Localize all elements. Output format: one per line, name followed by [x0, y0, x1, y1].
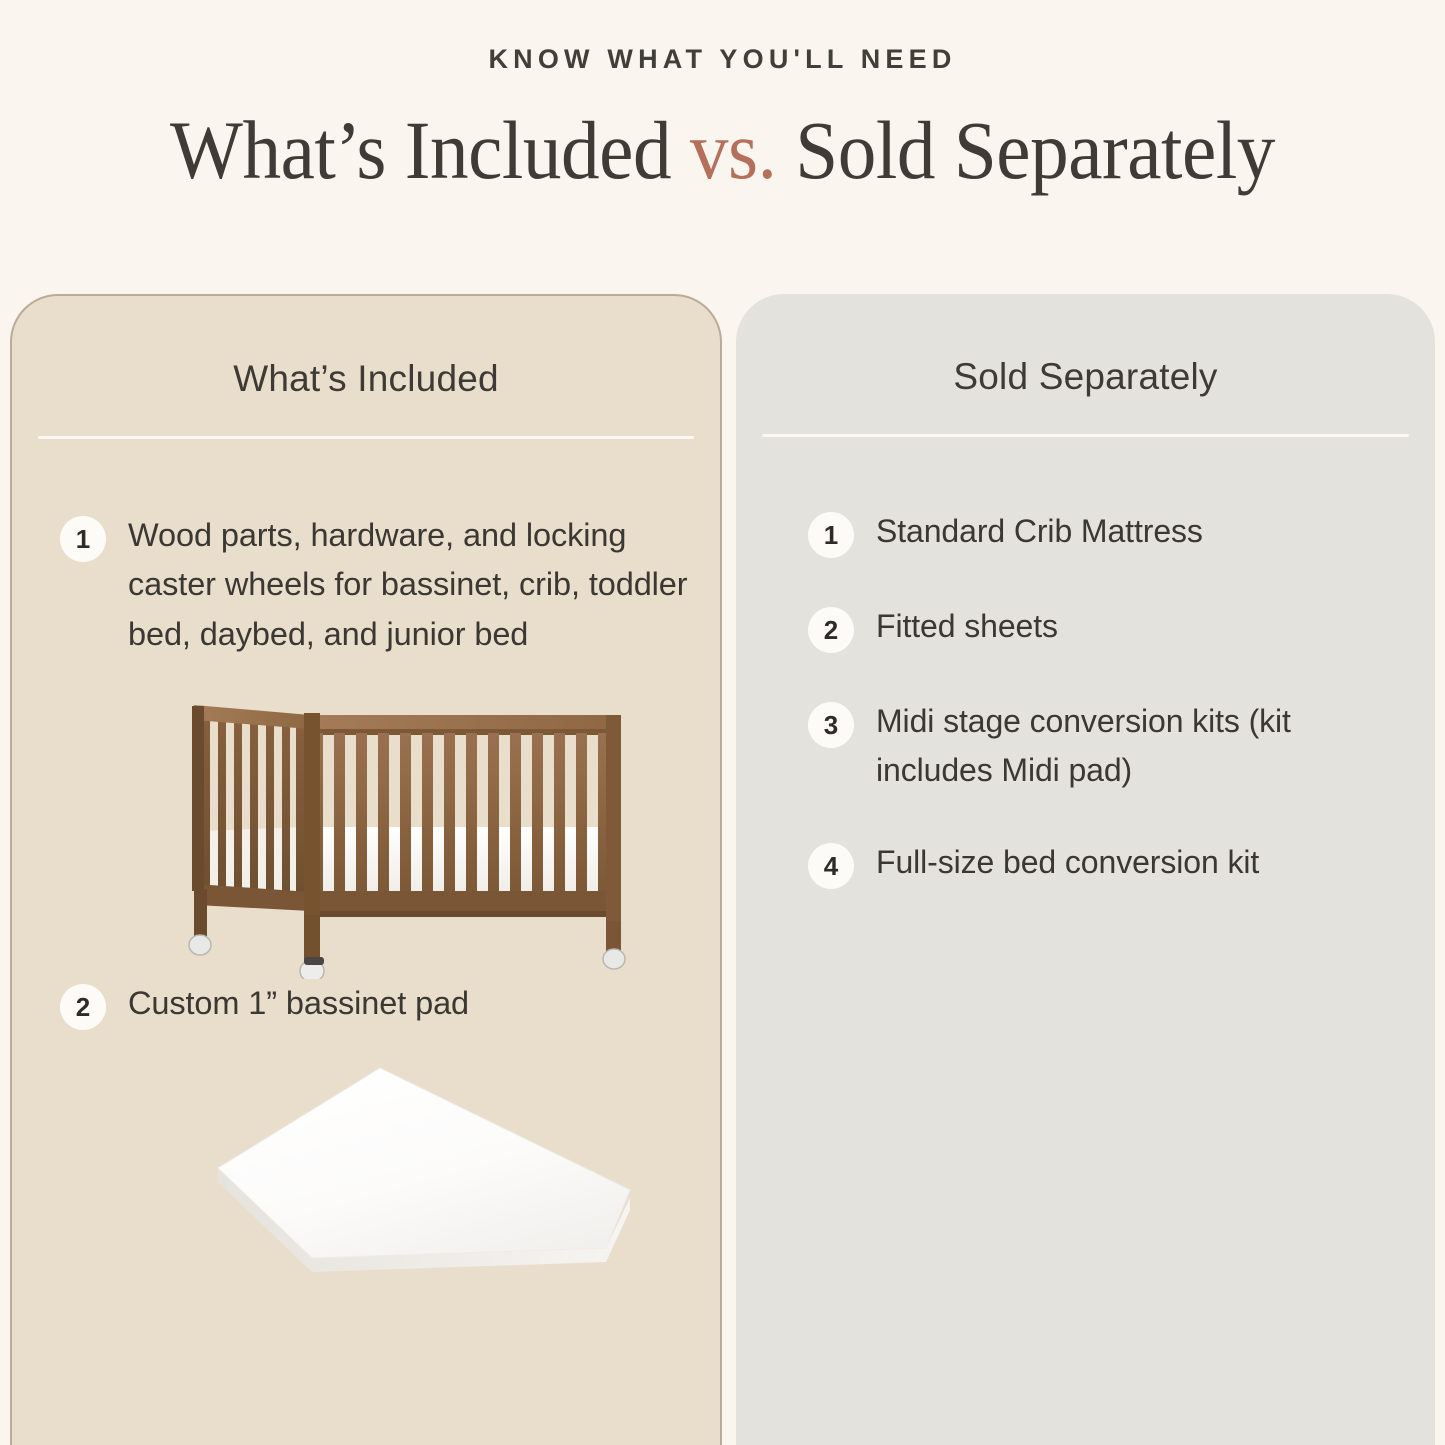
item-number-badge: 1: [808, 512, 854, 558]
item-text: Midi stage conversion kits (kit includes…: [876, 697, 1395, 794]
item-number-badge: 4: [808, 843, 854, 889]
item-text: Standard Crib Mattress: [876, 507, 1203, 556]
page-header: KNOW WHAT YOU'LL NEED What’s Included vs…: [0, 0, 1445, 193]
crib-illustration: [178, 679, 638, 979]
page-title-part2: Sold Separately: [776, 104, 1274, 196]
item-number-badge: 3: [808, 702, 854, 748]
bassinet-pad-illustration: [200, 1060, 670, 1290]
list-item: 1 Standard Crib Mattress: [808, 507, 1395, 558]
crib-image-stage: [60, 679, 690, 979]
page-title: What’s Included vs. Sold Separately: [51, 107, 1395, 193]
item-text: Fitted sheets: [876, 602, 1058, 651]
eyebrow-text: KNOW WHAT YOU'LL NEED: [0, 46, 1445, 73]
comparison-cards: What’s Included 1 Wood parts, hardware, …: [0, 294, 1445, 1445]
item-number-badge: 2: [808, 607, 854, 653]
included-list: 1 Wood parts, hardware, and locking cast…: [12, 511, 720, 1290]
included-card: What’s Included 1 Wood parts, hardware, …: [10, 294, 722, 1445]
caster-wheels: [189, 935, 625, 979]
list-item: 2 Custom 1” bassinet pad: [60, 979, 690, 1030]
page-title-vs: vs.: [690, 104, 777, 196]
sold-separately-card-title: Sold Separately: [736, 294, 1435, 398]
sold-separately-list: 1 Standard Crib Mattress 2 Fitted sheets…: [736, 507, 1435, 889]
item-text: Full-size bed conversion kit: [876, 838, 1259, 887]
sold-separately-card-divider: [762, 434, 1409, 437]
sold-separately-card: Sold Separately 1 Standard Crib Mattress…: [736, 294, 1435, 1445]
page-title-part1: What’s Included: [170, 104, 690, 196]
item-text: Wood parts, hardware, and locking caster…: [128, 511, 690, 659]
item-number-badge: 2: [60, 984, 106, 1030]
crib-product-image: [178, 679, 638, 979]
item-number-badge: 1: [60, 516, 106, 562]
pad-image-stage: [60, 1060, 690, 1290]
item-text: Custom 1” bassinet pad: [128, 979, 469, 1028]
included-card-divider: [38, 436, 694, 439]
list-item: 3 Midi stage conversion kits (kit includ…: [808, 697, 1395, 794]
list-item: 2 Fitted sheets: [808, 602, 1395, 653]
list-item: 1 Wood parts, hardware, and locking cast…: [60, 511, 690, 659]
included-card-title: What’s Included: [12, 296, 720, 400]
bassinet-pad-product-image: [200, 1060, 670, 1290]
list-item: 4 Full-size bed conversion kit: [808, 838, 1395, 889]
